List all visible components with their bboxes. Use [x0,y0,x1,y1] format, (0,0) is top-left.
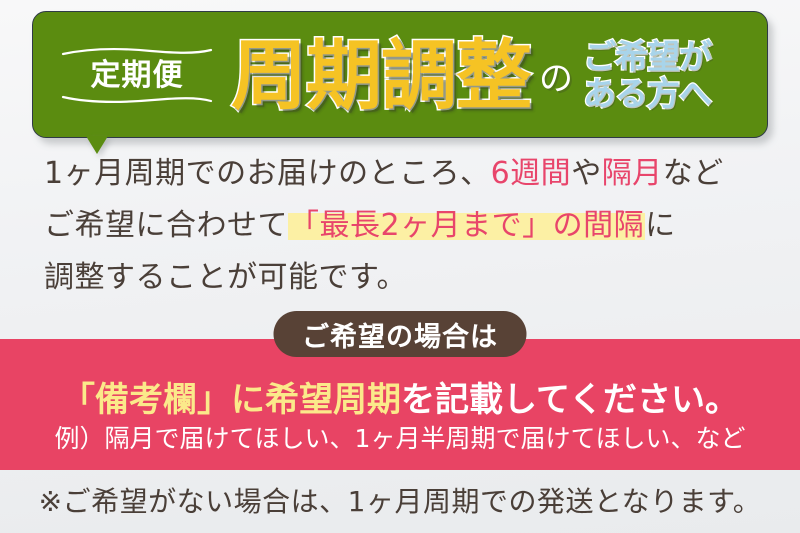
body-line-1-text-a: 1ヶ月周期でのお届けのところ、 [44,156,491,191]
body-line-1-text-c: など [663,156,724,191]
body-line-2-text-a: ご希望に合わせて [44,208,288,243]
body-paragraph: 1ヶ月周期でのお届けのところ、6週間や隔月など ご希望に合わせて「最長2ヶ月まで… [44,148,764,304]
body-line-2: ご希望に合わせて「最長2ヶ月まで」の間隔に [44,200,764,252]
instruction-example: 例）隔月で届けてほしい、1ヶ月半周期で届けてほしい、など [0,419,800,455]
body-line-1-accent-2: 隔月 [602,156,663,191]
instruction-headline: 「備考欄」に希望周期を記載してください。 [0,372,800,421]
body-line-1-accent-1: 6週間 [491,156,572,191]
body-line-1-text-b: や [571,156,602,191]
header-bubble: 定期便 周期調整 の ご希望が ある方へ [32,11,768,138]
header-particle: の [539,51,573,100]
header-content: 定期便 周期調整 の ご希望が ある方へ [33,12,769,139]
body-line-2-text-b: に [645,208,676,243]
instruction-headline-rest: を記載してください。 [401,380,739,420]
body-line-3: 調整することが可能です。 [44,252,764,304]
request-case-badge: ご希望の場合は [274,311,527,357]
header-target-audience: ご希望が ある方へ [583,40,711,111]
subscription-label: 定期便 [91,58,184,93]
promo-banner: 定期便 周期調整 の ご希望が ある方へ 1ヶ月周期でのお届けのところ、6週間や… [0,0,800,533]
body-line-2-highlight: 「最長2ヶ月まで」の間隔 [288,208,645,243]
footer-note: ※ご希望がない場合は、1ヶ月周期での発送となります。 [0,480,800,520]
instruction-headline-highlight: 「備考欄」に希望周期 [61,380,401,420]
body-line-1: 1ヶ月周期でのお届けのところ、6週間や隔月など [44,148,764,200]
audience-line-1: ご希望が [583,40,711,75]
wave-line-bottom-icon [61,94,213,104]
audience-line-2: ある方へ [583,77,711,112]
header-main-title: 周期調整 [231,38,531,114]
instruction-band: 「備考欄」に希望周期を記載してください。 例）隔月で届けてほしい、1ヶ月半周期で… [0,339,800,470]
request-case-badge-label: ご希望の場合は [302,315,498,354]
wave-line-top-icon [61,47,213,57]
subscription-label-block: 定期便 [57,45,217,106]
